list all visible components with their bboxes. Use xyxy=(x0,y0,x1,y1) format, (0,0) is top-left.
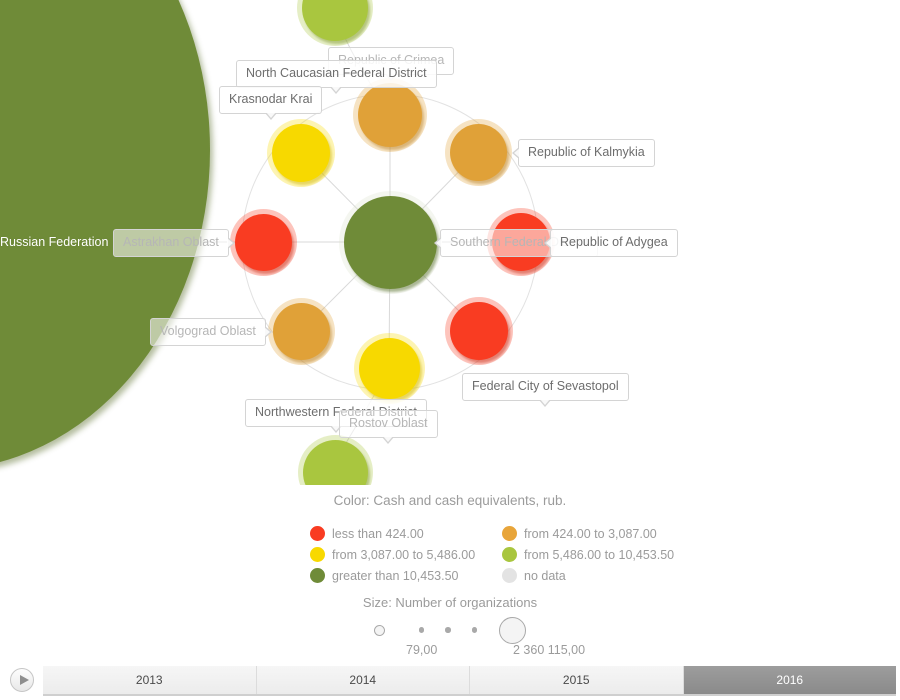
legend-item-label: no data xyxy=(524,569,566,583)
legend-row: less than 424.00 from 424.00 to 3,087.00 xyxy=(310,523,710,544)
node-republic-of-crimea[interactable] xyxy=(302,0,368,41)
swatch-light-green-icon xyxy=(502,547,517,562)
size-legend-scale xyxy=(0,615,900,645)
legend-item-less-than-424[interactable]: less than 424.00 xyxy=(310,526,502,541)
year-tab-2013[interactable]: 2013 xyxy=(43,666,257,694)
node-republic-of-kalmykia[interactable] xyxy=(450,124,507,181)
legend-item-5486-to-10453[interactable]: from 5,486.00 to 10,453.50 xyxy=(502,547,694,562)
node-label-text: Rostov Oblast xyxy=(349,416,428,430)
callout-tail xyxy=(539,400,551,407)
play-button[interactable] xyxy=(10,668,34,692)
node-label-text: Republic of Adygea xyxy=(560,235,668,249)
year-tab-label: 2016 xyxy=(776,673,803,687)
node-label-north-caucasian-federal-district[interactable]: North Caucasian Federal District xyxy=(236,60,437,88)
size-legend-min: 79,00 xyxy=(406,643,437,657)
node-north-caucasian-federal-district[interactable] xyxy=(358,83,422,147)
node-astrakhan-oblast[interactable] xyxy=(235,214,292,271)
node-disc xyxy=(235,214,292,271)
legend-item-label: from 3,087.00 to 5,486.00 xyxy=(332,548,475,562)
swatch-no-data-icon xyxy=(502,568,517,583)
node-disc xyxy=(359,338,420,399)
legend-row: from 3,087.00 to 5,486.00 from 5,486.00 … xyxy=(310,544,710,565)
node-label-volgograd-oblast[interactable]: Volgograd Oblast xyxy=(150,318,266,346)
play-icon xyxy=(20,675,29,685)
node-federal-city-of-sevastopol[interactable] xyxy=(450,302,508,360)
node-label-republic-of-adygea[interactable]: Republic of Adygea xyxy=(550,229,678,257)
callout-tail xyxy=(382,437,394,444)
node-label-astrakhan-oblast[interactable]: Astrakhan Oblast xyxy=(113,229,229,257)
node-disc xyxy=(358,83,422,147)
legend-item-424-to-3087[interactable]: from 424.00 to 3,087.00 xyxy=(502,526,694,541)
size-legend-title: Size: Number of organizations xyxy=(0,595,900,610)
legend-item-label: greater than 10,453.50 xyxy=(332,569,459,583)
node-label-krasnodar-krai[interactable]: Krasnodar Krai xyxy=(219,86,322,114)
color-legend-title: Color: Cash and cash equivalents, rub. xyxy=(0,493,900,508)
callout-tail xyxy=(228,237,235,249)
timeline-control[interactable]: 2013 2014 2015 2016 xyxy=(0,660,900,700)
swatch-orange-icon xyxy=(502,526,517,541)
node-rostov-oblast[interactable] xyxy=(359,338,420,399)
color-legend-swatches: less than 424.00 from 424.00 to 3,087.00… xyxy=(310,523,710,586)
bubble-tree-canvas[interactable]: Russian Federation xyxy=(0,0,900,485)
node-label-text: Krasnodar Krai xyxy=(229,92,312,106)
year-tab-label: 2013 xyxy=(136,673,163,687)
size-circle-dot-1 xyxy=(419,627,425,633)
node-krasnodar-krai[interactable] xyxy=(272,124,330,182)
legend-item-label: from 424.00 to 3,087.00 xyxy=(524,527,657,541)
year-tab-2014[interactable]: 2014 xyxy=(257,666,471,694)
size-circle-largest xyxy=(499,617,526,644)
callout-tail xyxy=(265,326,272,338)
node-label-rostov-oblast[interactable]: Rostov Oblast xyxy=(339,410,438,438)
node-volgograd-oblast[interactable] xyxy=(273,303,330,360)
swatch-red-icon xyxy=(310,526,325,541)
node-disc xyxy=(273,303,330,360)
legend-row: greater than 10,453.50 no data xyxy=(310,565,710,586)
node-label-text: Republic of Kalmykia xyxy=(528,145,645,159)
node-label-republic-of-kalmykia[interactable]: Republic of Kalmykia xyxy=(518,139,655,167)
node-label-russian-federation: Russian Federation xyxy=(0,235,108,249)
year-tab-label: 2015 xyxy=(563,673,590,687)
callout-tail xyxy=(434,237,441,249)
year-tab-2016[interactable]: 2016 xyxy=(684,666,897,694)
node-disc xyxy=(450,124,507,181)
legend-panel: Color: Cash and cash equivalents, rub. l… xyxy=(0,485,900,660)
year-tab-2015[interactable]: 2015 xyxy=(470,666,684,694)
year-tab-label: 2014 xyxy=(349,673,376,687)
node-southern-federal-district[interactable] xyxy=(344,196,437,289)
node-northwestern-federal-district[interactable] xyxy=(303,440,368,485)
node-label-text: North Caucasian Federal District xyxy=(246,66,427,80)
size-circle-smallest xyxy=(374,625,385,636)
legend-item-no-data[interactable]: no data xyxy=(502,568,694,583)
size-circle-dot-3 xyxy=(472,627,478,633)
callout-tail xyxy=(330,87,342,94)
node-disc xyxy=(450,302,508,360)
node-label-text: Federal City of Sevastopol xyxy=(472,379,619,393)
year-tabs[interactable]: 2013 2014 2015 2016 xyxy=(43,666,896,696)
swatch-dark-green-icon xyxy=(310,568,325,583)
node-label-text: Volgograd Oblast xyxy=(160,324,256,338)
size-legend-max: 2 360 115,00 xyxy=(513,643,585,657)
callout-tail xyxy=(512,147,519,159)
node-disc xyxy=(344,196,437,289)
node-disc xyxy=(272,124,330,182)
swatch-yellow-icon xyxy=(310,547,325,562)
legend-item-3087-to-5486[interactable]: from 3,087.00 to 5,486.00 xyxy=(310,547,502,562)
callout-tail xyxy=(544,237,551,249)
legend-item-label: less than 424.00 xyxy=(332,527,424,541)
legend-item-label: from 5,486.00 to 10,453.50 xyxy=(524,548,674,562)
node-label-federal-city-of-sevastopol[interactable]: Federal City of Sevastopol xyxy=(462,373,629,401)
legend-item-greater-than-10453[interactable]: greater than 10,453.50 xyxy=(310,568,502,583)
callout-tail xyxy=(265,113,277,120)
node-label-text: Astrakhan Oblast xyxy=(123,235,219,249)
size-circle-dot-2 xyxy=(445,627,451,633)
